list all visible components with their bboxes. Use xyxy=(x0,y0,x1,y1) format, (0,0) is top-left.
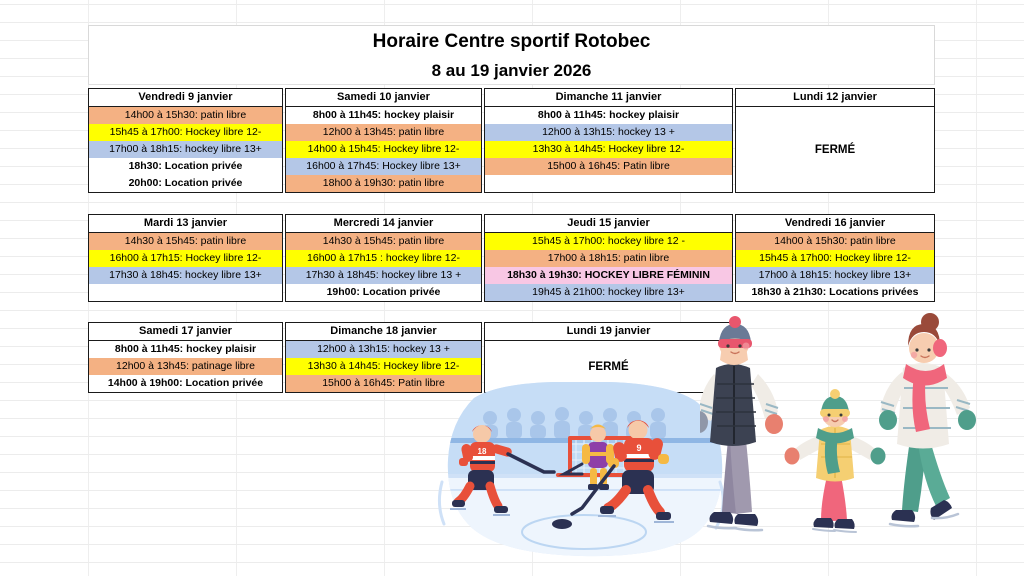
schedule-slot[interactable]: 8h00 à 11h45: hockey plaisir xyxy=(485,107,732,124)
day-header: Mardi 13 janvier xyxy=(89,215,282,233)
schedule-slot[interactable]: 17h00 à 18h15: patin libre xyxy=(485,250,732,267)
schedule-block-week1: Vendredi 9 janvier 14h00 à 15h30: patin … xyxy=(88,88,935,193)
day-header: Jeudi 15 janvier xyxy=(485,215,732,233)
svg-text:18: 18 xyxy=(478,447,487,456)
schedule-slot[interactable]: 19h00: Location privée xyxy=(286,284,481,301)
day-header: Dimanche 18 janvier xyxy=(286,323,481,341)
day-header: Samedi 17 janvier xyxy=(89,323,282,341)
schedule-slot[interactable]: 14h30 à 15h45: patin libre xyxy=(89,233,282,250)
day-column-vendredi-16-janvier[interactable]: Vendredi 16 janvier 14h00 à 15h30: patin… xyxy=(735,214,935,302)
schedule-slot[interactable]: 14h30 à 15h45: patin libre xyxy=(286,233,481,250)
schedule-slot[interactable]: 12h00 à 13h15: hockey 13 + xyxy=(485,124,732,141)
schedule-slot[interactable]: 8h00 à 11h45: hockey plaisir xyxy=(89,341,282,358)
schedule-slot[interactable]: 14h00 à 15h45: Hockey libre 12- xyxy=(286,141,481,158)
day-column-mardi-13-janvier[interactable]: Mardi 13 janvier 14h30 à 15h45: patin li… xyxy=(88,214,283,302)
day-column-dimanche-11-janvier[interactable]: Dimanche 11 janvier 8h00 à 11h45: hockey… xyxy=(484,88,733,193)
day-column-samedi-17-janvier[interactable]: Samedi 17 janvier 8h00 à 11h45: hockey p… xyxy=(88,322,283,393)
day-header: Lundi 19 janvier xyxy=(485,323,732,341)
day-header: Samedi 10 janvier xyxy=(286,89,481,107)
day-header: Vendredi 16 janvier xyxy=(736,215,934,233)
schedule-slot[interactable]: 14h00 à 15h30: patin libre xyxy=(89,107,282,124)
schedule-slot[interactable]: 15h45 à 17h00: hockey libre 12 - xyxy=(485,233,732,250)
schedule-slot[interactable]: 12h00 à 13h15: hockey 13 + xyxy=(286,341,481,358)
schedule-slot[interactable]: 16h00 à 17h15 : hockey libre 12- xyxy=(286,250,481,267)
schedule-slot[interactable]: 18h30 à 21h30: Locations privées xyxy=(736,284,934,301)
status-badge-closed: FERMÉ xyxy=(736,107,934,192)
day-column-lundi-19-janvier[interactable]: Lundi 19 janvier FERMÉ xyxy=(484,322,733,393)
figure-child xyxy=(785,389,886,532)
day-header: Mercredi 14 janvier xyxy=(286,215,481,233)
schedule-slot-empty xyxy=(89,284,282,301)
day-column-dimanche-18-janvier[interactable]: Dimanche 18 janvier 12h00 à 13h15: hocke… xyxy=(285,322,482,393)
schedule-slot[interactable]: 13h30 à 14h45: Hockey libre 12- xyxy=(485,141,732,158)
schedule-slot[interactable]: 17h30 à 18h45: hockey libre 13 + xyxy=(286,267,481,284)
page-title: Horaire Centre sportif Rotobec xyxy=(88,25,935,56)
schedule-slot[interactable]: 18h30: Location privée xyxy=(89,158,282,175)
schedule-slot[interactable]: 12h00 à 13h45: patinage libre xyxy=(89,358,282,375)
ice-hockey-illustration: 18 9 xyxy=(432,382,732,576)
day-column-mercredi-14-janvier[interactable]: Mercredi 14 janvier 14h30 à 15h45: patin… xyxy=(285,214,482,302)
status-badge-closed: FERMÉ xyxy=(485,341,732,392)
schedule-slot[interactable]: 17h00 à 18h15: hockey libre 13+ xyxy=(736,267,934,284)
schedule-slot[interactable]: 15h00 à 16h45: Patin libre xyxy=(485,158,732,175)
schedule-block-week3: Samedi 17 janvier 8h00 à 11h45: hockey p… xyxy=(88,322,733,393)
page-subtitle-date-range: 8 au 19 janvier 2026 xyxy=(88,56,935,85)
spreadsheet-canvas: Horaire Centre sportif Rotobec 8 au 19 j… xyxy=(0,0,1024,576)
schedule-slot[interactable]: 17h30 à 18h45: hockey libre 13+ xyxy=(89,267,282,284)
schedule-slot[interactable]: 15h45 à 17h00: Hockey libre 12- xyxy=(89,124,282,141)
schedule-slot[interactable]: 16h00 à 17h15: Hockey libre 12- xyxy=(89,250,282,267)
day-column-jeudi-15-janvier[interactable]: Jeudi 15 janvier 15h45 à 17h00: hockey l… xyxy=(484,214,733,302)
day-header: Lundi 12 janvier xyxy=(736,89,934,107)
schedule-slot[interactable]: 12h00 à 13h45: patin libre xyxy=(286,124,481,141)
schedule-slot[interactable]: 15h45 à 17h00: Hockey libre 12- xyxy=(736,250,934,267)
schedule-slot[interactable]: 14h00 à 15h30: patin libre xyxy=(736,233,934,250)
day-column-vendredi-9-janvier[interactable]: Vendredi 9 janvier 14h00 à 15h30: patin … xyxy=(88,88,283,193)
schedule-slot-empty xyxy=(485,175,732,192)
schedule-slot[interactable]: 14h00 à 19h00: Location privée xyxy=(89,375,282,392)
family-skating-illustration xyxy=(700,312,990,576)
schedule-slot[interactable]: 8h00 à 11h45: hockey plaisir xyxy=(286,107,481,124)
schedule-slot[interactable]: 20h00: Location privée xyxy=(89,175,282,192)
schedule-slot[interactable]: 17h00 à 18h15: hockey libre 13+ xyxy=(89,141,282,158)
schedule-slot[interactable]: 15h00 à 16h45: Patin libre xyxy=(286,375,481,392)
schedule-slot[interactable]: 16h00 à 17h45: Hockey libre 13+ xyxy=(286,158,481,175)
schedule-slot[interactable]: 13h30 à 14h45: Hockey libre 12- xyxy=(286,358,481,375)
day-column-samedi-10-janvier[interactable]: Samedi 10 janvier 8h00 à 11h45: hockey p… xyxy=(285,88,482,193)
schedule-slot[interactable]: 18h00 à 19h30: patin libre xyxy=(286,175,481,192)
svg-text:9: 9 xyxy=(636,443,641,453)
day-header: Vendredi 9 janvier xyxy=(89,89,282,107)
schedule-block-week2: Mardi 13 janvier 14h30 à 15h45: patin li… xyxy=(88,214,935,302)
day-header: Dimanche 11 janvier xyxy=(485,89,732,107)
figure-adult-right xyxy=(879,313,976,526)
schedule-slot-highlight[interactable]: 18h30 à 19h30: HOCKEY LIBRE FÉMININ xyxy=(485,267,732,284)
day-column-lundi-12-janvier[interactable]: Lundi 12 janvier FERMÉ xyxy=(735,88,935,193)
schedule-slot[interactable]: 19h45 à 21h00: hockey libre 13+ xyxy=(485,284,732,301)
